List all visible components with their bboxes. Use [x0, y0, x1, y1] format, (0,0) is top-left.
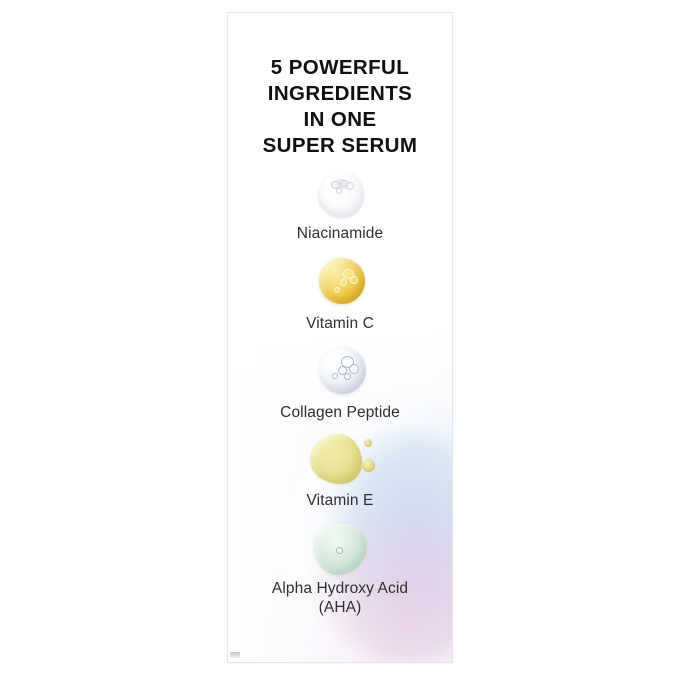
ingredient-label: Vitamin E — [228, 491, 452, 510]
niacinamide-icon — [290, 166, 390, 224]
bubble — [331, 181, 340, 189]
ingredient-item-vitamin-e: Vitamin E — [228, 433, 452, 510]
vitamin-c-icon — [290, 256, 390, 314]
bubble — [344, 373, 351, 380]
headline-line-1: 5 POWERFUL — [228, 55, 452, 81]
alpha-hydroxy-acid-icon — [290, 521, 390, 579]
bubble — [349, 364, 359, 374]
vitamin-e-icon — [290, 433, 390, 491]
droplet-pale-blue-icon — [319, 347, 366, 394]
droplet-satellite-small-icon — [364, 439, 372, 447]
droplet-golden-icon — [319, 258, 365, 304]
bubble — [340, 180, 347, 187]
bubble — [340, 279, 347, 286]
ingredient-item-vitamin-c: Vitamin C — [228, 256, 452, 333]
droplet-pale-yellow-icon — [310, 434, 362, 484]
bubble — [336, 188, 342, 194]
ingredient-item-niacinamide: Niacinamide — [228, 166, 452, 243]
ingredient-item-collagen-peptide: Collagen Peptide — [228, 345, 452, 422]
ingredient-label: Alpha Hydroxy Acid (AHA) — [228, 579, 452, 617]
ingredient-label-main: Alpha Hydroxy Acid — [272, 580, 408, 597]
droplet-clear-icon — [318, 170, 364, 218]
bubble — [334, 287, 340, 293]
bubble — [336, 547, 343, 554]
ingredient-label: Niacinamide — [228, 224, 452, 243]
ingredient-label: Collagen Peptide — [228, 403, 452, 422]
ingredient-label-sub: (AHA) — [228, 598, 452, 617]
collagen-peptide-icon — [290, 345, 390, 403]
product-panel: 5 POWERFUL INGREDIENTS IN ONE SUPER SERU… — [228, 13, 452, 662]
ingredient-item-alpha-hydroxy-acid: Alpha Hydroxy Acid (AHA) — [228, 521, 452, 617]
headline-line-4: SUPER SERUM — [228, 133, 452, 159]
ingredient-label: Vitamin C — [228, 314, 452, 333]
bubble — [332, 373, 338, 379]
headline-line-2: INGREDIENTS — [228, 81, 452, 107]
droplet-satellite-large-icon — [362, 459, 375, 472]
page-title: 5 POWERFUL INGREDIENTS IN ONE SUPER SERU… — [228, 55, 452, 159]
bubble — [346, 182, 354, 190]
headline-line-3: IN ONE — [228, 107, 452, 133]
bubble — [350, 276, 358, 284]
